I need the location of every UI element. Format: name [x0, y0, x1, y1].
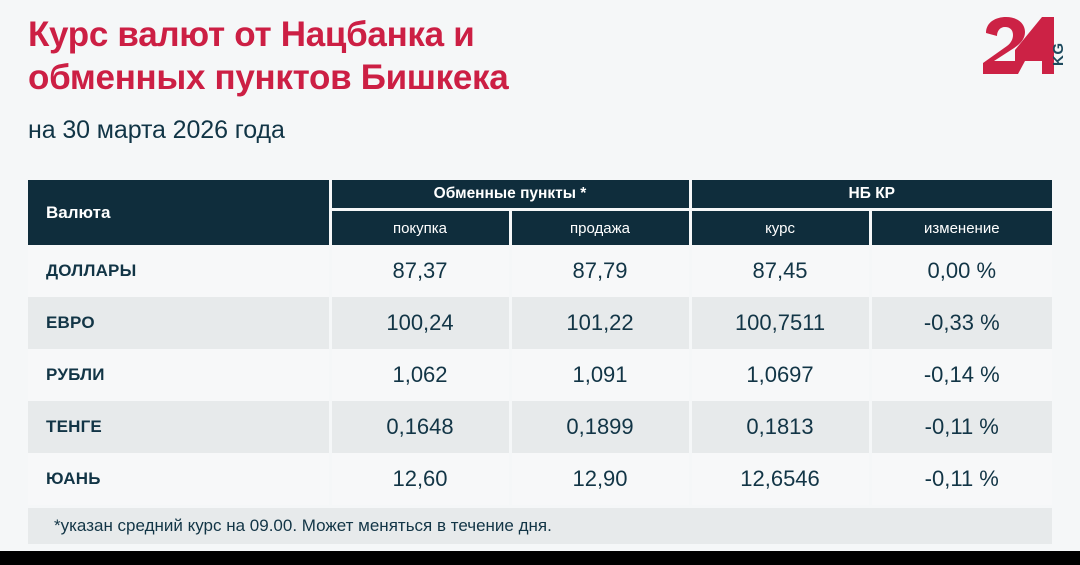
cell-rate: 1,0697 — [690, 349, 870, 401]
column-group-nbkr: НБ КР — [690, 180, 1052, 210]
cell-sell: 12,90 — [510, 453, 690, 507]
cell-currency: ТЕНГЕ — [28, 401, 330, 453]
table-row: РУБЛИ 1,062 1,091 1,0697 -0,14 % — [28, 349, 1052, 401]
table-row: ДОЛЛАРЫ 87,37 87,79 87,45 0,00 % — [28, 245, 1052, 297]
logo-suffix-kg: KG — [1050, 43, 1067, 67]
cell-buy: 1,062 — [330, 349, 510, 401]
cell-change: -0,14 % — [870, 349, 1052, 401]
24-kg-logo[interactable]: KG — [980, 16, 1070, 78]
cell-rate: 0,1813 — [690, 401, 870, 453]
page-title-line-1: Курс валют от Нацбанка и — [28, 14, 728, 57]
header: Курс валют от Нацбанка и обменных пункто… — [28, 14, 1052, 154]
table-footer: *указан средний курс на 09.00. Может мен… — [28, 507, 1052, 545]
cell-change: -0,11 % — [870, 453, 1052, 507]
cell-buy: 12,60 — [330, 453, 510, 507]
cell-change: -0,11 % — [870, 401, 1052, 453]
column-header-rate: курс — [690, 210, 870, 246]
table-row: ТЕНГЕ 0,1648 0,1899 0,1813 -0,11 % — [28, 401, 1052, 453]
table-footnote: *указан средний курс на 09.00. Может мен… — [28, 507, 1052, 545]
column-header-sell: продажа — [510, 210, 690, 246]
table-header-row-groups: Валюта Обменные пункты * НБ КР — [28, 180, 1052, 210]
column-header-currency: Валюта — [28, 180, 330, 245]
table-header: Валюта Обменные пункты * НБ КР покупка п… — [28, 180, 1052, 245]
cell-buy: 87,37 — [330, 245, 510, 297]
column-header-change: изменение — [870, 210, 1052, 246]
currency-rates-table: Валюта Обменные пункты * НБ КР покупка п… — [28, 180, 1052, 544]
cell-rate: 87,45 — [690, 245, 870, 297]
cell-sell: 101,22 — [510, 297, 690, 349]
bottom-bar — [0, 551, 1080, 565]
cell-sell: 1,091 — [510, 349, 690, 401]
table-body: ДОЛЛАРЫ 87,37 87,79 87,45 0,00 % ЕВРО 10… — [28, 245, 1052, 507]
cell-rate: 100,7511 — [690, 297, 870, 349]
column-header-buy: покупка — [330, 210, 510, 246]
cell-rate: 12,6546 — [690, 453, 870, 507]
column-group-exchange-offices: Обменные пункты * — [330, 180, 690, 210]
cell-currency: ЮАНЬ — [28, 453, 330, 507]
infographic-page: Курс валют от Нацбанка и обменных пункто… — [0, 0, 1080, 565]
page-subtitle: на 30 марта 2026 года — [28, 99, 1052, 145]
cell-buy: 0,1648 — [330, 401, 510, 453]
table-row: ЕВРО 100,24 101,22 100,7511 -0,33 % — [28, 297, 1052, 349]
cell-sell: 0,1899 — [510, 401, 690, 453]
page-title: Курс валют от Нацбанка и обменных пункто… — [28, 14, 728, 99]
cell-sell: 87,79 — [510, 245, 690, 297]
cell-buy: 100,24 — [330, 297, 510, 349]
cell-currency: ДОЛЛАРЫ — [28, 245, 330, 297]
table-row: ЮАНЬ 12,60 12,90 12,6546 -0,11 % — [28, 453, 1052, 507]
cell-currency: РУБЛИ — [28, 349, 330, 401]
footnote-row: *указан средний курс на 09.00. Может мен… — [28, 507, 1052, 545]
page-title-line-2: обменных пунктов Бишкека — [28, 57, 728, 100]
cell-change: -0,33 % — [870, 297, 1052, 349]
logo-icon: KG — [980, 16, 1070, 78]
cell-change: 0,00 % — [870, 245, 1052, 297]
cell-currency: ЕВРО — [28, 297, 330, 349]
